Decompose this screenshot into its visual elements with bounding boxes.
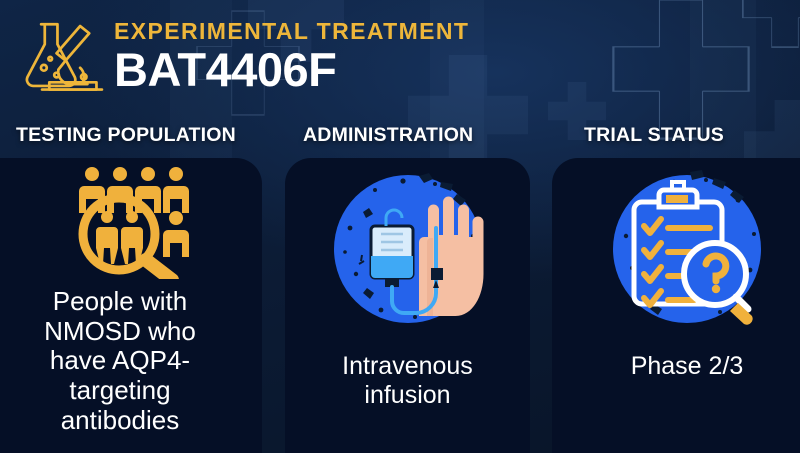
column-header-testing-population: TESTING POPULATION [16,124,236,147]
header: EXPERIMENTAL TREATMENT BAT4406F [0,0,800,112]
clipboard-checklist-magnifier-question-icon [602,164,772,334]
card-testing-population: People with NMOSD who have AQP4-targetin… [0,158,262,453]
people-magnifier-icon [56,164,206,279]
card-text-administration: Intravenous infusion [300,352,515,409]
column-header-trial-status: TRIAL STATUS [584,124,724,147]
card-text-testing-population: People with NMOSD who have AQP4-targetin… [20,287,220,435]
card-text-trial-status: Phase 2/3 [572,352,800,381]
flask-microscope-icon [16,17,108,95]
page-title: BAT4406F [114,46,469,95]
eyebrow-label: EXPERIMENTAL TREATMENT [114,20,469,43]
iv-drip-hand-icon [323,164,493,334]
card-trial-status: Phase 2/3 [552,158,800,453]
column-header-administration: ADMINISTRATION [303,124,473,147]
title-block: EXPERIMENTAL TREATMENT BAT4406F [114,18,469,95]
card-administration: Intravenous infusion [285,158,530,453]
